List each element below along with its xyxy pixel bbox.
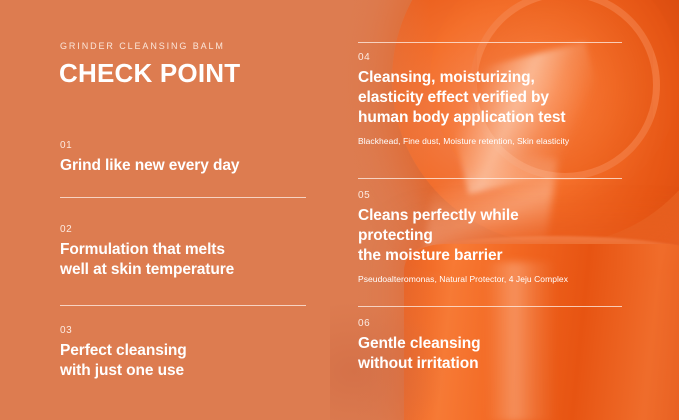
item-number: 03 <box>60 325 310 336</box>
check-point-item-02: 02 Formulation that melts well at skin t… <box>60 224 310 280</box>
item-title: Formulation that melts well at skin temp… <box>60 240 310 280</box>
item-number: 04 <box>358 52 628 63</box>
item-number: 02 <box>60 224 310 235</box>
item-title: Grind like new every day <box>60 156 310 176</box>
item-title: Cleansing, moisturizing, elasticity effe… <box>358 68 628 127</box>
divider-left-1 <box>60 197 306 198</box>
divider-right-1 <box>358 42 622 43</box>
item-title: Perfect cleansing with just one use <box>60 341 310 381</box>
item-number: 06 <box>358 318 628 329</box>
divider-right-3 <box>358 306 622 307</box>
check-point-item-04: 04 Cleansing, moisturizing, elasticity e… <box>358 52 628 148</box>
item-number: 01 <box>60 140 310 151</box>
check-point-item-01: 01 Grind like new every day <box>60 140 310 176</box>
brand-eyebrow: GRINDER CLEANSING BALM <box>60 41 225 51</box>
check-point-banner: GRINDER CLEANSING BALM CHECK POINT 01 Gr… <box>0 0 679 420</box>
item-subtitle: Pseudoalteromonas, Natural Protector, 4 … <box>358 274 628 285</box>
banner-content: GRINDER CLEANSING BALM CHECK POINT 01 Gr… <box>0 0 679 420</box>
item-number: 05 <box>358 190 628 201</box>
item-subtitle: Blackhead, Fine dust, Moisture retention… <box>358 136 628 147</box>
page-title: CHECK POINT <box>59 58 240 89</box>
check-point-item-05: 05 Cleans perfectly while protecting the… <box>358 190 628 286</box>
divider-right-2 <box>358 178 622 179</box>
item-title: Gentle cleansing without irritation <box>358 334 628 374</box>
item-title: Cleans perfectly while protecting the mo… <box>358 206 628 265</box>
check-point-item-03: 03 Perfect cleansing with just one use <box>60 325 310 381</box>
check-point-item-06: 06 Gentle cleansing without irritation <box>358 318 628 374</box>
divider-left-2 <box>60 305 306 306</box>
